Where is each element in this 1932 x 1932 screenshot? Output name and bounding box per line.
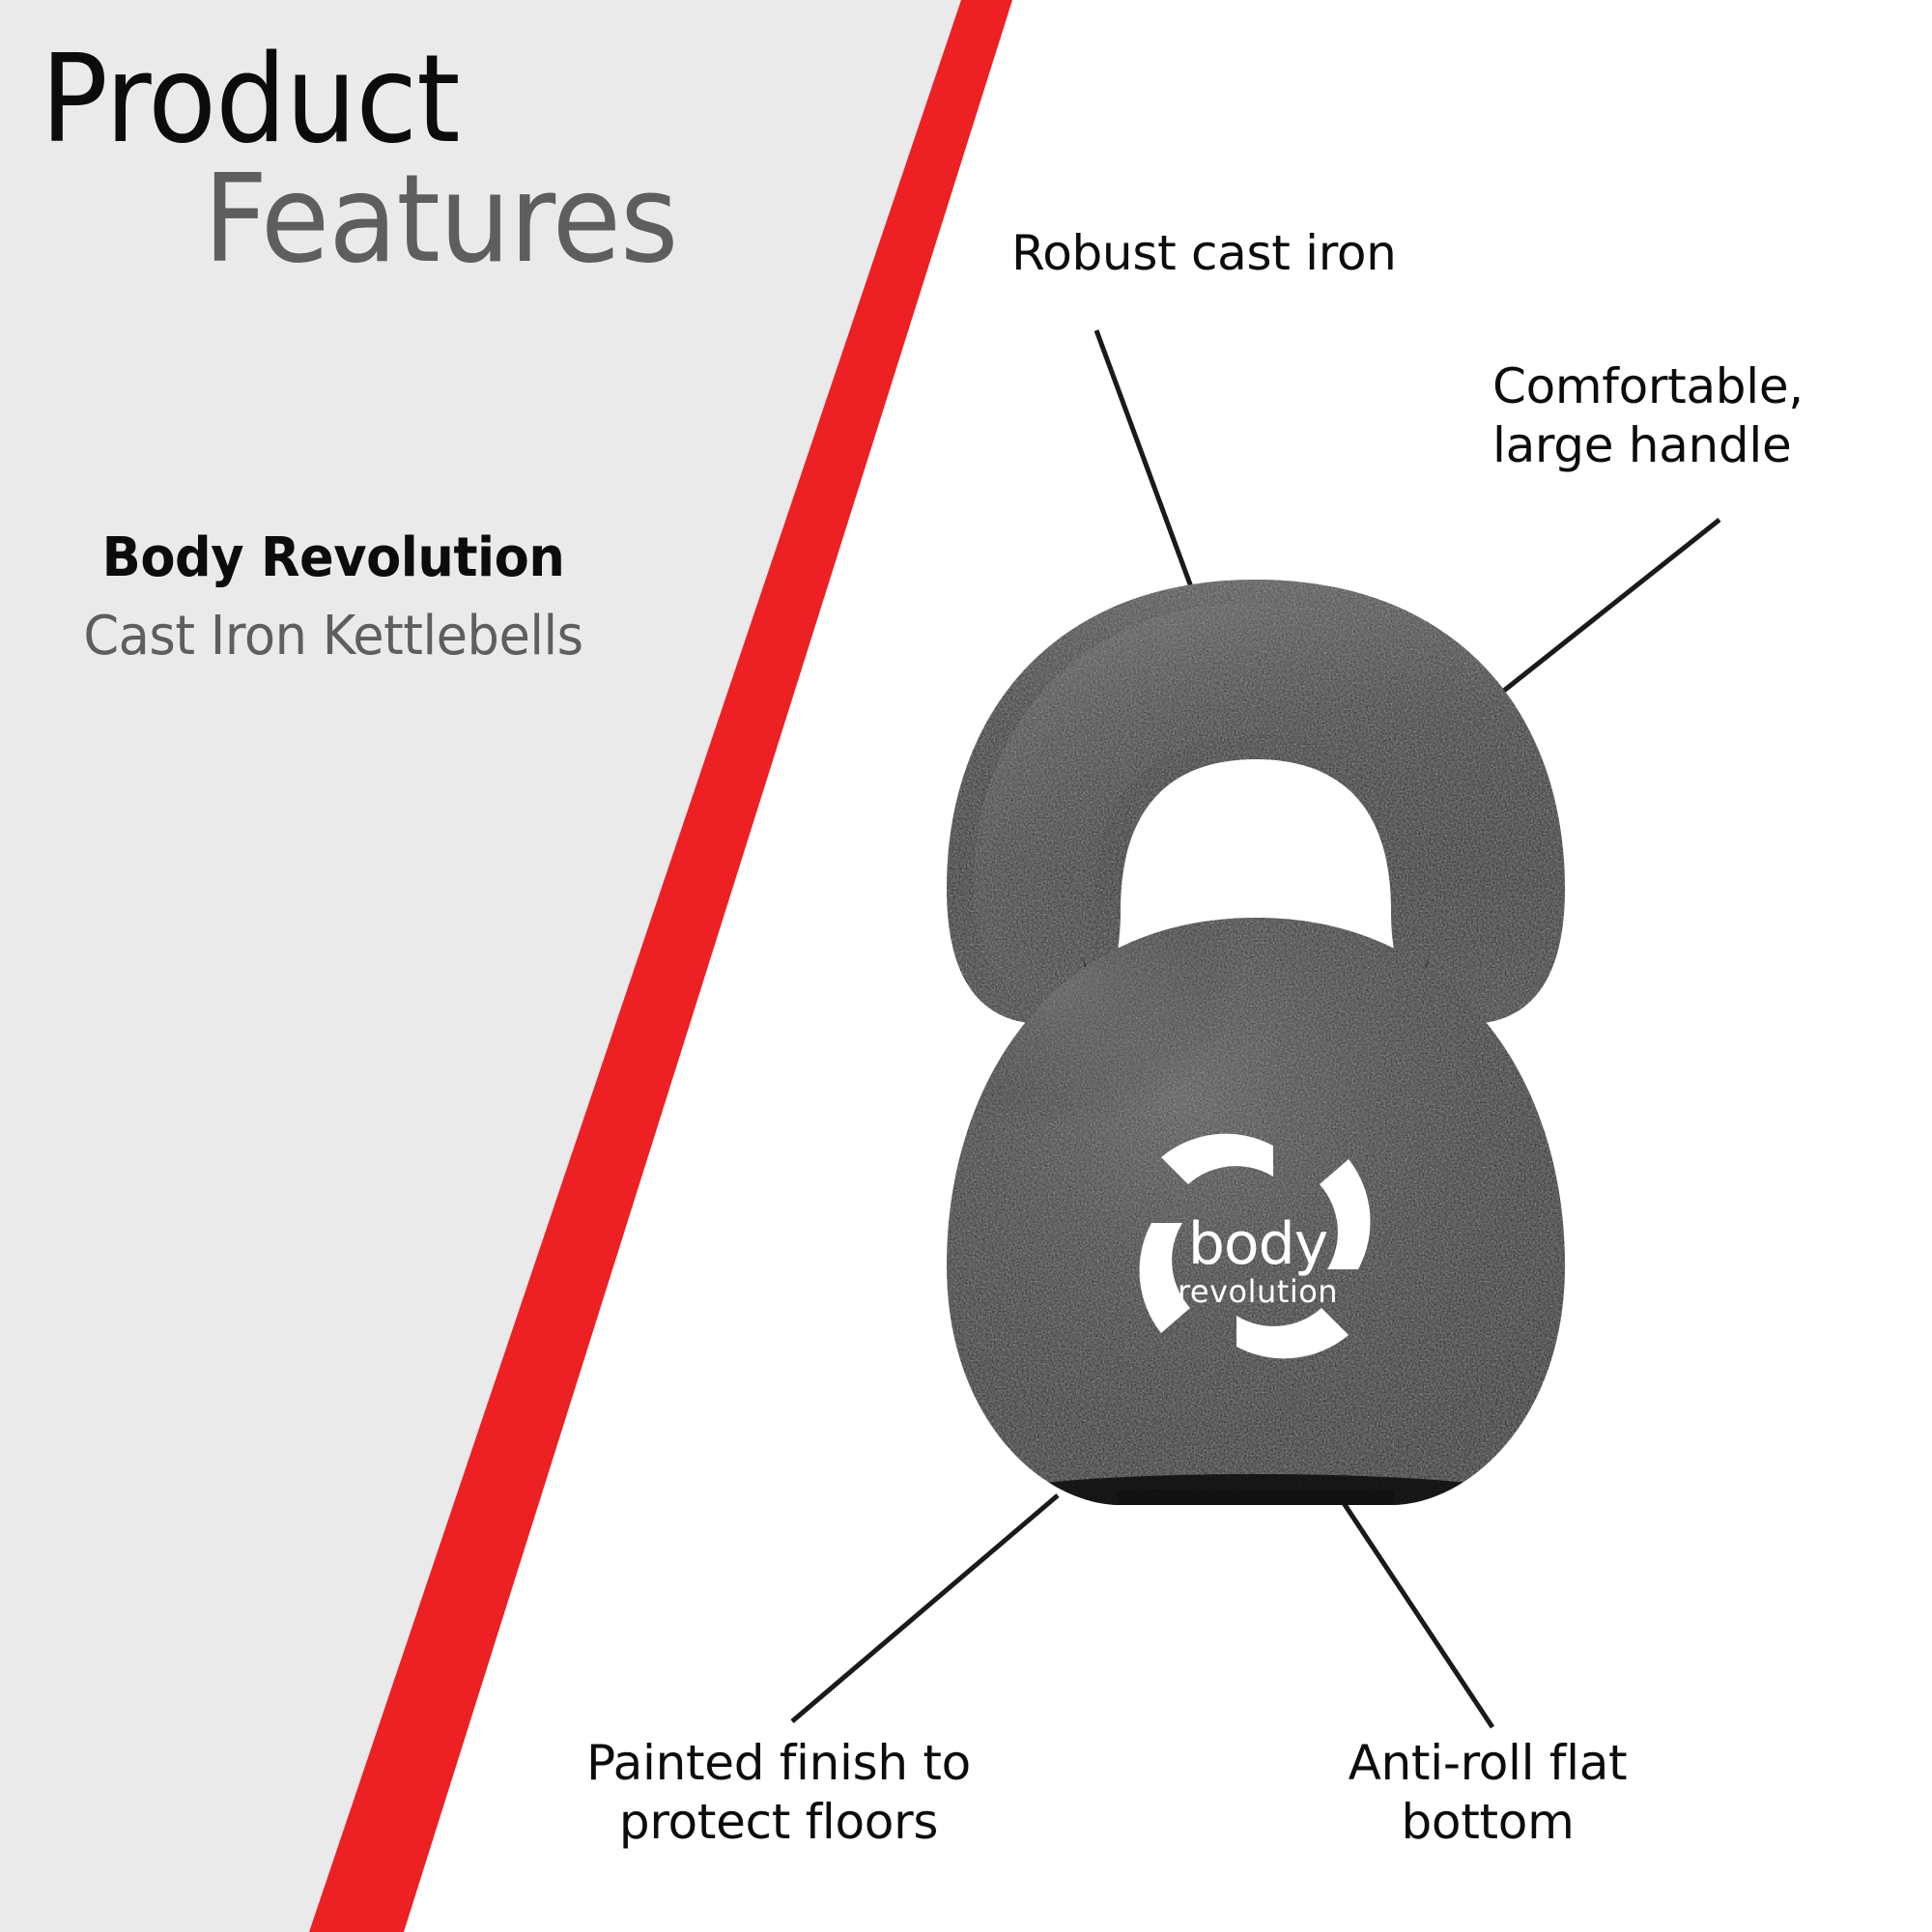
infographic-canvas: Product Features Body Revolution Cast Ir… bbox=[0, 0, 1932, 1932]
leader-line-robust-cast-iron bbox=[1096, 330, 1200, 611]
logo-text-revolution: revolution bbox=[1178, 1273, 1338, 1310]
callout-label-comfortable-handle: Comfortable, large handle bbox=[1492, 357, 1918, 475]
callout-label-painted-finish: Painted finish to protect floors bbox=[537, 1734, 1020, 1852]
kettlebell-product-image: body revolution bbox=[792, 570, 1719, 1540]
kettlebell-flat-bottom bbox=[1117, 1490, 1395, 1505]
callout-label-robust-cast-iron: Robust cast iron bbox=[1011, 224, 1397, 283]
callout-label-anti-roll-bottom: Anti-roll flat bottom bbox=[1275, 1734, 1700, 1852]
kettlebell-svg: body revolution bbox=[792, 570, 1719, 1536]
logo-text-body: body bbox=[1188, 1210, 1327, 1278]
